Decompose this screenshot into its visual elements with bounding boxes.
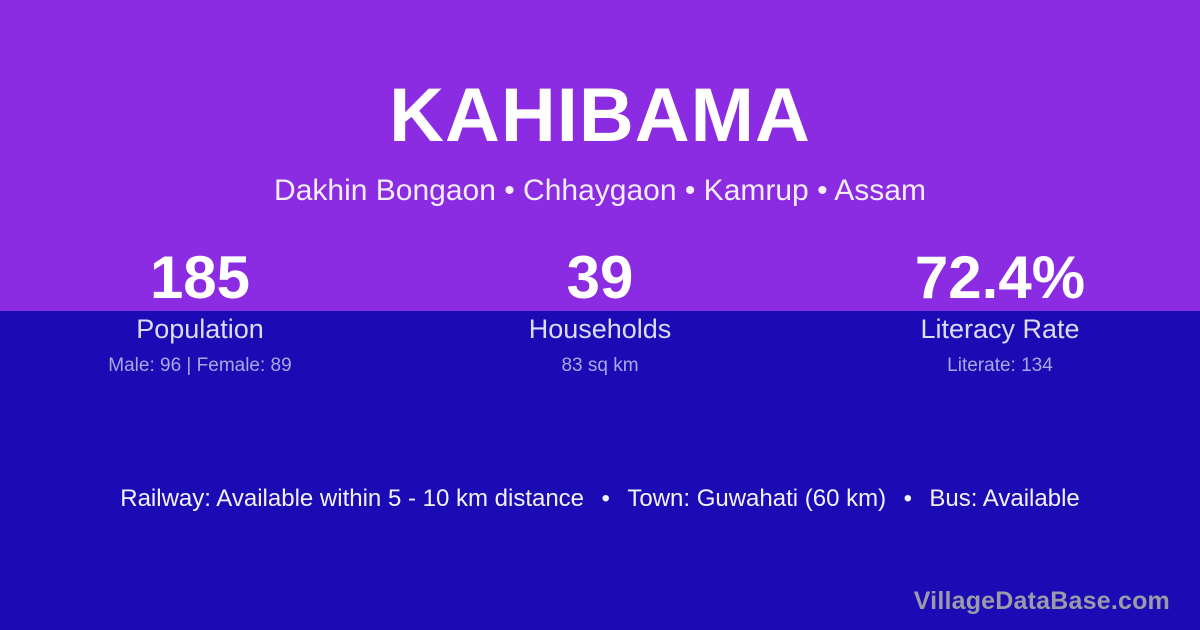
facilities-row: Railway: Available within 5 - 10 km dist… [0, 483, 1200, 515]
facility-town: Town: Guwahati (60 km) [627, 485, 886, 512]
stat-sublabel: Literate: 134 [800, 346, 1200, 377]
page-title: KAHIBAMA [0, 0, 1200, 154]
facility-separator: • [891, 485, 925, 512]
stat-literacy-rate: 72.4% Literacy Rate Literate: 134 [800, 244, 1200, 377]
site-brand: VillageDataBase.com [914, 586, 1170, 616]
stat-sublabel: Male: 96 | Female: 89 [0, 346, 400, 377]
stat-label: Population [0, 312, 400, 346]
stat-value: 185 [0, 244, 400, 312]
stat-sublabel: 83 sq km [400, 346, 800, 377]
stat-label: Literacy Rate [800, 312, 1200, 346]
card-header: KAHIBAMA Dakhin Bongaon • Chhaygaon • Ka… [0, 0, 1200, 206]
village-info-card: KAHIBAMA Dakhin Bongaon • Chhaygaon • Ka… [0, 0, 1200, 630]
facility-separator: • [588, 485, 622, 512]
stats-row: 185 Population Male: 96 | Female: 89 39 … [0, 244, 1200, 377]
stat-value: 72.4% [800, 244, 1200, 312]
stat-households: 39 Households 83 sq km [400, 244, 800, 377]
stat-value: 39 [400, 244, 800, 312]
stat-population: 185 Population Male: 96 | Female: 89 [0, 244, 400, 377]
stat-label: Households [400, 312, 800, 346]
facility-bus: Bus: Available [929, 485, 1079, 512]
facility-railway: Railway: Available within 5 - 10 km dist… [120, 485, 584, 512]
breadcrumb: Dakhin Bongaon • Chhaygaon • Kamrup • As… [0, 154, 1200, 206]
